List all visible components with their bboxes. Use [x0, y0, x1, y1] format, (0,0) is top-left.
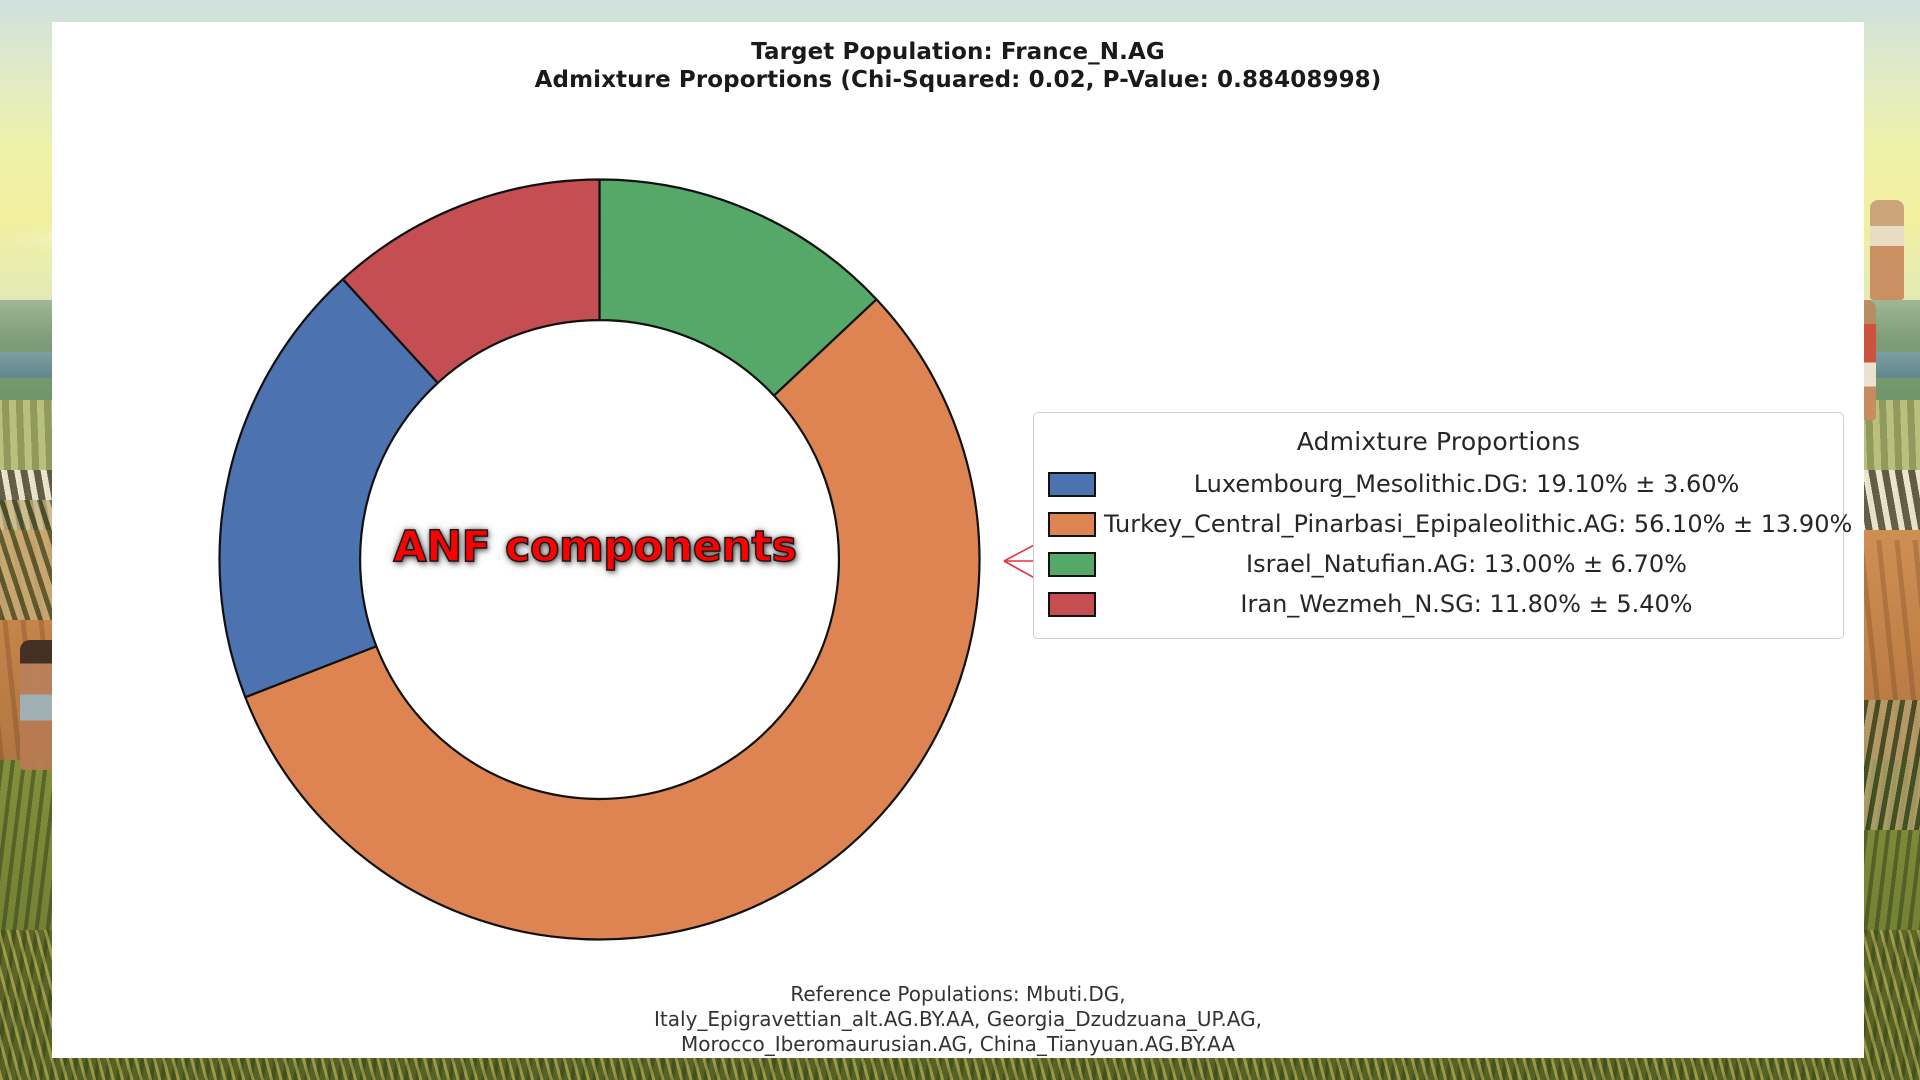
- legend-item: Iran_Wezmeh_N.SG: 11.80% ± 5.40%: [1048, 584, 1829, 624]
- legend-color-swatch: [1048, 472, 1096, 497]
- legend-item-label: Luxembourg_Mesolithic.DG: 19.10% ± 3.60%: [1104, 470, 1829, 498]
- legend-box: Admixture Proportions Luxembourg_Mesolit…: [1033, 412, 1844, 639]
- legend-color-swatch: [1048, 512, 1096, 537]
- chart-title-line-2: Admixture Proportions (Chi-Squared: 0.02…: [52, 66, 1864, 94]
- donut-chart-svg: Israel_Natufian.AG: 13.00%Turkey_Central…: [167, 127, 1032, 992]
- legend-item-label: Iran_Wezmeh_N.SG: 11.80% ± 5.40%: [1104, 590, 1829, 618]
- screenshot-root: Target Population: France_N.AG Admixture…: [0, 0, 1920, 1080]
- chart-panel: Target Population: France_N.AG Admixture…: [52, 22, 1864, 1058]
- donut-slices: Israel_Natufian.AG: 13.00%Turkey_Central…: [220, 180, 980, 940]
- footer-line-3: Morocco_Iberomaurusian.AG, China_Tianyua…: [52, 1032, 1864, 1057]
- reference-populations-footer: Reference Populations: Mbuti.DG, Italy_E…: [52, 982, 1864, 1057]
- legend-item: Luxembourg_Mesolithic.DG: 19.10% ± 3.60%: [1048, 464, 1829, 504]
- legend-title: Admixture Proportions: [1048, 427, 1829, 456]
- legend-item: Israel_Natufian.AG: 13.00% ± 6.70%: [1048, 544, 1829, 584]
- legend-color-swatch: [1048, 552, 1096, 577]
- legend-item: Turkey_Central_Pinarbasi_Epipaleolithic.…: [1048, 504, 1829, 544]
- donut-chart: Israel_Natufian.AG: 13.00%Turkey_Central…: [167, 127, 1032, 992]
- legend-rows: Luxembourg_Mesolithic.DG: 19.10% ± 3.60%…: [1048, 464, 1829, 624]
- footer-line-1: Reference Populations: Mbuti.DG,: [52, 982, 1864, 1007]
- legend-color-swatch: [1048, 592, 1096, 617]
- legend-item-label: Israel_Natufian.AG: 13.00% ± 6.70%: [1104, 550, 1829, 578]
- chart-title-line-1: Target Population: France_N.AG: [52, 38, 1864, 66]
- chart-title: Target Population: France_N.AG Admixture…: [52, 38, 1864, 94]
- legend-item-label: Turkey_Central_Pinarbasi_Epipaleolithic.…: [1104, 510, 1852, 538]
- background-figure-right-upper: [1870, 200, 1904, 300]
- footer-line-2: Italy_Epigravettian_alt.AG.BY.AA, Georgi…: [52, 1007, 1864, 1032]
